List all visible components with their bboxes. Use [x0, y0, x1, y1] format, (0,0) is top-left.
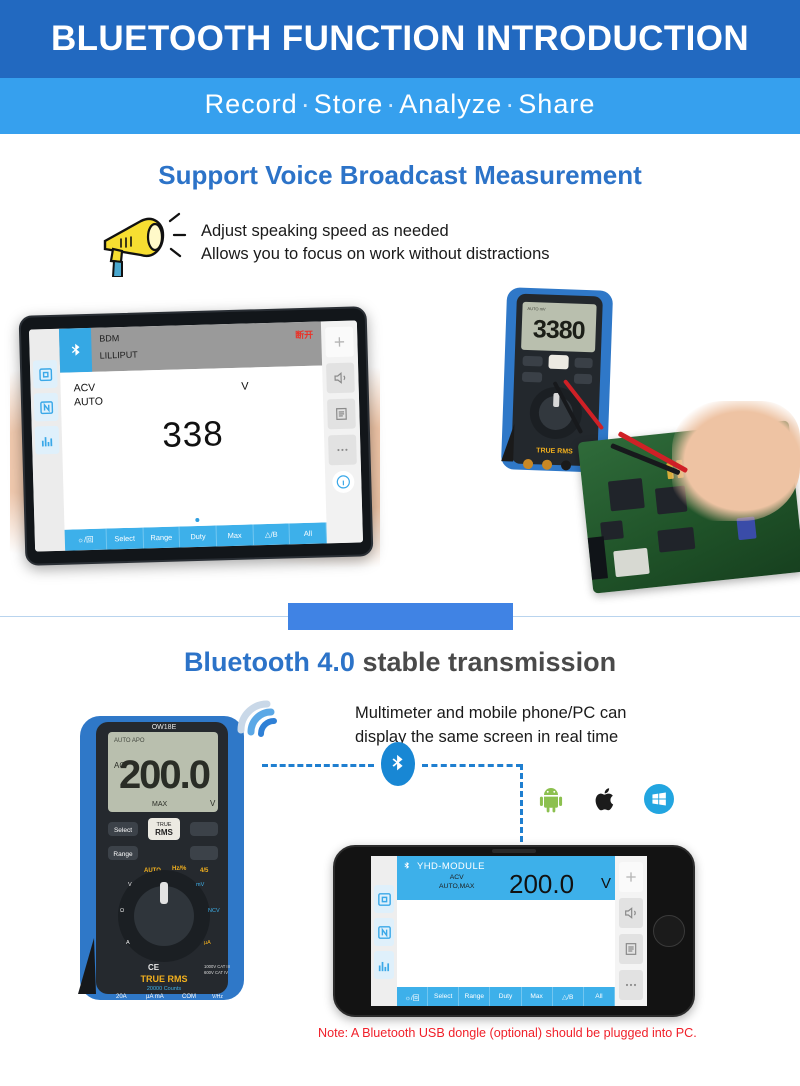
tablet-value: 338 — [61, 411, 324, 458]
svg-text:1000V CAT III: 1000V CAT III — [204, 964, 230, 969]
svg-text:µA: µA — [204, 940, 211, 946]
multimeter-device-left: 200.0 AUTO APO AC MAX V OW18E Select TRU… — [72, 706, 252, 1006]
tablet-disconnect-button[interactable]: 断开 — [295, 328, 313, 341]
tablet-reading-area: ACV AUTO V 338 — [60, 365, 326, 529]
board-chip — [608, 478, 645, 511]
phone-toolbar-delta-bt[interactable]: △/B — [553, 987, 584, 1006]
phone-main-panel: YHD-MODULE ACV AUTO,MAX 200.0 V ☼/回 Sele… — [397, 856, 615, 1006]
voice-feature-text: Adjust speaking speed as needed Allows y… — [201, 220, 550, 267]
board-chip — [657, 527, 695, 553]
subtitle-word-share: Share — [518, 89, 595, 119]
tablet-mode-block: ACV AUTO — [73, 374, 323, 409]
plus-icon[interactable] — [325, 327, 354, 358]
bluetooth-icon[interactable] — [59, 328, 92, 373]
page-header: BLUETOOTH FUNCTION INTRODUCTION — [0, 0, 800, 78]
bluetooth-icon[interactable] — [402, 861, 412, 874]
subtitle-word-store: Store — [314, 89, 384, 119]
plus-icon[interactable] — [619, 862, 643, 892]
phone-toolbar-max[interactable]: Max — [522, 987, 553, 1006]
chart-icon[interactable] — [374, 951, 394, 979]
tablet-unit: V — [241, 381, 249, 393]
mm-left-display-value: 200.0 — [119, 753, 210, 797]
tablet-toolbar-range[interactable]: Range — [143, 526, 180, 548]
header-subtitle: Record·Store·Analyze·Share — [205, 89, 596, 120]
svg-text:RMS: RMS — [155, 828, 173, 837]
tablet-toolbar-light[interactable]: ☼/回 — [65, 529, 108, 551]
voice-bullet-2: Allows you to focus on work without dist… — [201, 243, 550, 266]
tablet-device-names: BDM LILLIPUT — [91, 327, 138, 372]
svg-text:Ω: Ω — [120, 908, 124, 914]
svg-text:CE: CE — [148, 963, 160, 972]
footer-note: Note: A Bluetooth USB dongle (optional) … — [318, 1026, 697, 1040]
phone-toolbar-all[interactable]: All — [584, 987, 615, 1006]
section2-title-blue: Bluetooth 4.0 — [184, 647, 355, 677]
tablet-page-dot — [195, 518, 199, 522]
bluetooth-icon — [381, 742, 415, 786]
subtitle-word-analyze: Analyze — [399, 89, 502, 119]
phone-home-button[interactable] — [653, 915, 685, 947]
tablet-toolbar-delta-bt[interactable]: △/B — [253, 523, 290, 545]
svg-text:V: V — [128, 882, 132, 888]
platform-icons — [536, 784, 674, 814]
section2-desc-line1: Multimeter and mobile phone/PC can — [355, 702, 626, 726]
record-n-icon[interactable] — [34, 393, 59, 422]
apple-icon — [590, 784, 620, 814]
phone-device: YHD-MODULE ACV AUTO,MAX 200.0 V ☼/回 Sele… — [333, 845, 695, 1017]
tablet-device-name: BDM — [99, 330, 137, 348]
phone-mode-block: ACV AUTO,MAX — [439, 874, 474, 892]
tablet-main-panel: BDM LILLIPUT 断开 ACV AUTO V 338 ☼/回 — [59, 321, 327, 550]
hand-holding-probes — [672, 401, 800, 521]
more-icon[interactable] — [619, 970, 643, 1000]
tablet-right-rail — [321, 320, 363, 543]
tablet-toolbar-select[interactable]: Select — [107, 528, 144, 550]
svg-text:4/5: 4/5 — [200, 868, 209, 874]
signal-waves-icon — [233, 678, 303, 738]
tablet-brand-name: LILLIPUT — [99, 347, 137, 365]
phone-unit: V — [601, 875, 611, 892]
page-title: BLUETOOTH FUNCTION INTRODUCTION — [51, 19, 749, 59]
subtitle-sep-3: · — [502, 89, 518, 119]
board-ethernet-port — [613, 548, 650, 577]
phone-toolbar-duty[interactable]: Duty — [490, 987, 521, 1006]
phone-screen: YHD-MODULE ACV AUTO,MAX 200.0 V ☼/回 Sele… — [371, 856, 647, 1006]
mm-left-max: MAX — [152, 801, 168, 808]
divider-accent-box — [288, 603, 513, 630]
phone-left-rail — [371, 856, 397, 1006]
svg-text:NCV: NCV — [208, 908, 220, 914]
svg-text:A: A — [126, 940, 130, 946]
section1-title: Support Voice Broadcast Measurement — [0, 160, 800, 191]
tablet-screen: BDM LILLIPUT 断开 ACV AUTO V 338 ☼/回 — [29, 320, 363, 551]
tablet-bluetooth-bar: BDM LILLIPUT 断开 — [59, 321, 322, 372]
phone-mode: ACV — [439, 874, 474, 883]
svg-text:Select: Select — [114, 827, 132, 834]
subtitle-sep-1: · — [298, 89, 314, 119]
phone-range-mode: AUTO,MAX — [439, 883, 474, 892]
svg-text:Hz/%: Hz/% — [172, 866, 187, 872]
svg-text:20A: 20A — [116, 994, 127, 1000]
svg-text:AUTO mV: AUTO mV — [527, 306, 546, 312]
svg-text:µA mA: µA mA — [146, 994, 164, 1000]
header-accent-strip — [0, 130, 800, 134]
scene-tablet-demo: BDM LILLIPUT 断开 ACV AUTO V 338 ☼/回 — [0, 283, 800, 593]
board-slot — [588, 536, 608, 579]
phone-speaker — [492, 849, 536, 853]
svg-text:3380: 3380 — [532, 315, 585, 345]
voice-feature-row: Adjust speaking speed as needed Allows y… — [95, 209, 800, 277]
info-icon[interactable] — [332, 471, 355, 494]
svg-text:600V CAT IV: 600V CAT IV — [204, 970, 228, 975]
list-icon[interactable] — [619, 934, 643, 964]
record-n-icon[interactable] — [374, 918, 394, 946]
tablet-device: BDM LILLIPUT 断开 ACV AUTO V 338 ☼/回 — [19, 306, 374, 566]
mm-left-auto: AUTO APO — [114, 738, 145, 744]
tablet-toolbar-max[interactable]: Max — [217, 524, 254, 546]
connection-line-left — [262, 764, 374, 767]
header-subtitle-bar: Record·Store·Analyze·Share — [0, 78, 800, 130]
phone-graph-area — [397, 900, 615, 987]
mm-left-model: OW18E — [152, 724, 177, 731]
megaphone-icon — [95, 209, 187, 277]
svg-text:mV: mV — [196, 882, 205, 888]
voice-bullet-1: Adjust speaking speed as needed — [201, 220, 550, 243]
phone-toolbar-select[interactable]: Select — [428, 987, 459, 1006]
chart-icon[interactable] — [35, 426, 60, 455]
mm-left-unit: V — [210, 799, 216, 808]
svg-text:Range: Range — [113, 851, 133, 858]
phone-status-bar: YHD-MODULE ACV AUTO,MAX 200.0 V — [397, 856, 615, 900]
subtitle-sep-2: · — [383, 89, 399, 119]
mm-left-ac: AC — [114, 761, 125, 770]
speaker-icon[interactable] — [619, 898, 643, 928]
list-icon[interactable] — [327, 399, 356, 430]
more-icon[interactable] — [328, 435, 357, 466]
section2-title: Bluetooth 4.0 stable transmission — [0, 647, 800, 678]
svg-text:20000 Counts: 20000 Counts — [147, 986, 181, 992]
section-divider — [0, 599, 800, 633]
subtitle-word-record: Record — [205, 89, 298, 119]
capture-icon[interactable] — [374, 885, 394, 913]
tablet-toolbar-all[interactable]: All — [290, 522, 327, 544]
phone-toolbar: ☼/回 Select Range Duty Max △/B All — [397, 987, 615, 1006]
svg-text:COM: COM — [182, 994, 196, 1000]
tablet-toolbar-duty[interactable]: Duty — [180, 525, 217, 547]
phone-right-rail — [615, 856, 647, 1006]
connection-line-right — [422, 764, 522, 767]
android-icon — [536, 784, 566, 814]
speaker-icon[interactable] — [326, 363, 355, 394]
phone-device-name: YHD-MODULE — [417, 861, 485, 872]
phone-value: 200.0 — [509, 869, 574, 900]
svg-text:TRUE RMS: TRUE RMS — [536, 447, 573, 455]
section2-title-gray: stable transmission — [362, 647, 616, 677]
phone-toolbar-light[interactable]: ☼/回 — [397, 987, 428, 1006]
capture-icon[interactable] — [33, 360, 58, 389]
phone-toolbar-range[interactable]: Range — [459, 987, 490, 1006]
windows-icon — [644, 784, 674, 814]
svg-text:V/Hz: V/Hz — [212, 994, 223, 1000]
svg-text:TRUE RMS: TRUE RMS — [141, 974, 188, 984]
